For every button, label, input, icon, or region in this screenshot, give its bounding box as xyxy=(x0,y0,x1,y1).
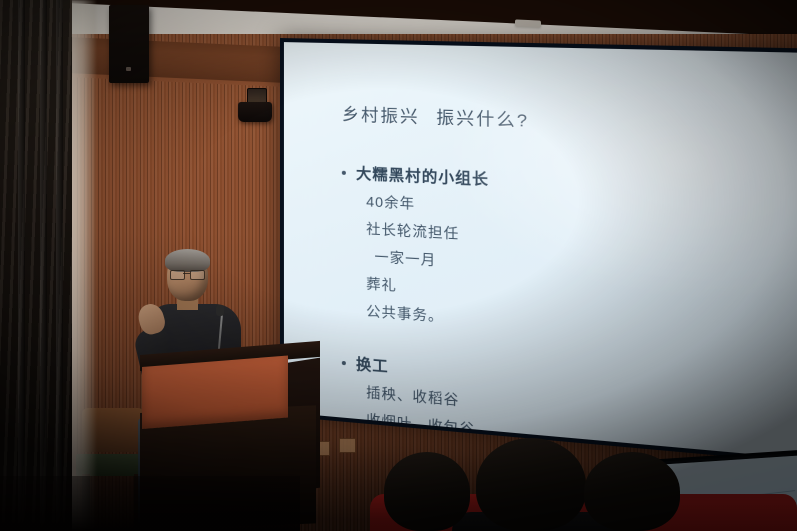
curtain-fold xyxy=(40,0,47,531)
bullet-dot-icon xyxy=(342,170,346,174)
screen-surface: 乡村振兴振兴什么? 大糯黑村的小组长 40余年 社长轮流担任 一家一月 葬礼 公… xyxy=(284,42,797,464)
slide-title-part1: 乡村振兴 xyxy=(342,105,420,127)
slide-bullet-1: 大糯黑村的小组长 40余年 社长轮流担任 一家一月 葬礼 公共事务。 xyxy=(342,162,797,357)
curtain-fold xyxy=(56,0,63,531)
audience-head xyxy=(584,452,680,531)
curtain-fold xyxy=(18,0,25,531)
outlet-plate xyxy=(339,438,356,453)
wall-light-shade xyxy=(238,102,272,122)
speaker-led-icon xyxy=(126,67,131,71)
podium-front-panel xyxy=(142,356,288,429)
bullet-dot-icon xyxy=(342,360,346,364)
glasses-lens-right xyxy=(190,270,205,280)
audience-head xyxy=(476,438,586,531)
foreground-shadow xyxy=(0,476,300,531)
bullet-1-heading-text: 大糯黑村的小组长 xyxy=(356,162,489,189)
wall-speaker-icon xyxy=(109,5,149,83)
glasses-icon xyxy=(170,270,205,278)
slide-content: 乡村振兴振兴什么? 大糯黑村的小组长 40余年 社长轮流担任 一家一月 葬礼 公… xyxy=(284,42,797,464)
wall-light-icon xyxy=(238,88,272,122)
glasses-lens-left xyxy=(170,270,185,280)
slide-title: 乡村振兴振兴什么? xyxy=(342,100,797,144)
bullet-2-heading-text: 换工 xyxy=(356,353,389,377)
glasses-bridge xyxy=(183,273,190,274)
audience-head xyxy=(384,452,470,531)
microphone-icon xyxy=(216,305,224,316)
ceiling-fixture-icon xyxy=(515,19,541,27)
slide-title-part2: 振兴什么? xyxy=(436,108,529,131)
projection-screen: 乡村振兴振兴什么? 大糯黑村的小组长 40余年 社长轮流担任 一家一月 葬礼 公… xyxy=(280,38,797,468)
lecture-hall-photo: 乡村振兴振兴什么? 大糯黑村的小组长 40余年 社长轮流担任 一家一月 葬礼 公… xyxy=(0,0,797,531)
presenter-hair xyxy=(165,249,210,272)
